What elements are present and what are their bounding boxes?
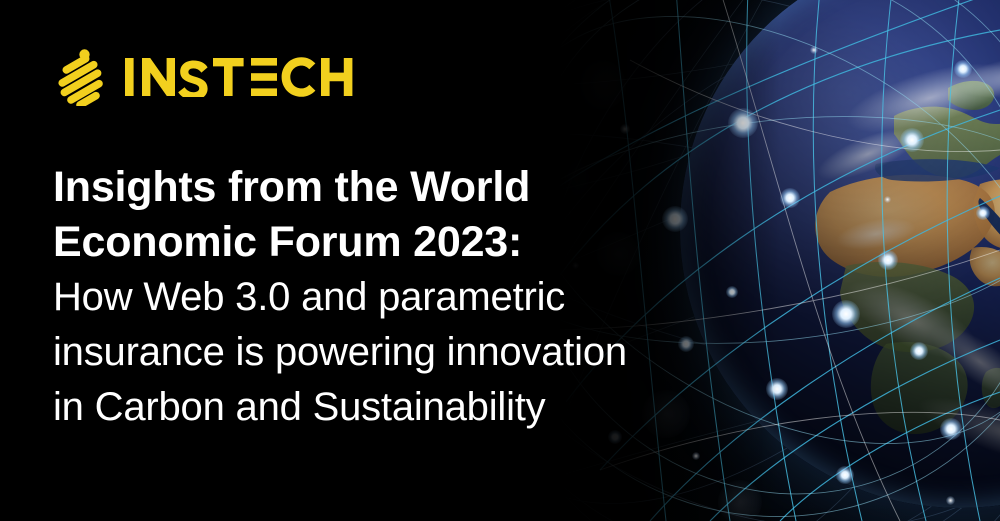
page-title: Insights from the World Economic Forum 2…	[53, 160, 783, 270]
page-subtitle: How Web 3.0 and parametric insurance is …	[53, 270, 783, 435]
instech-wordmark	[125, 57, 357, 97]
banner: Insights from the World Economic Forum 2…	[0, 0, 1000, 521]
headline-line-2: Economic Forum 2023:	[53, 215, 783, 270]
subhead-line-1: How Web 3.0 and parametric	[53, 270, 783, 325]
instech-logo[interactable]	[53, 48, 357, 106]
headline-block: Insights from the World Economic Forum 2…	[53, 160, 783, 435]
hexagon-stripes-icon	[53, 48, 109, 106]
subhead-line-3: in Carbon and Sustainability	[53, 380, 783, 435]
subhead-line-2: insurance is powering innovation	[53, 325, 783, 380]
headline-line-1: Insights from the World	[53, 160, 783, 215]
